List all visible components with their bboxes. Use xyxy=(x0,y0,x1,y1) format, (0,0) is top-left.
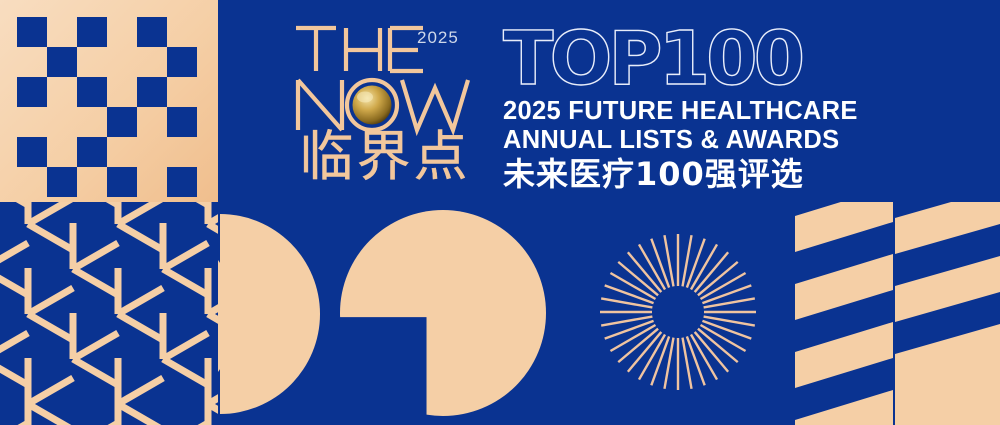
checker-cell xyxy=(137,107,167,137)
event-banner: 2025 临界点 TOP100 2025 FUTURE HEALTHCARE A… xyxy=(0,0,1000,425)
hex-lattice-icon xyxy=(0,202,218,425)
checker-cell xyxy=(17,167,47,197)
checker-cell xyxy=(77,17,107,47)
checker-cell xyxy=(17,17,47,47)
checker-cell xyxy=(167,107,197,137)
semicircle-right xyxy=(220,214,320,414)
checker-cell xyxy=(17,47,47,77)
gold-orb-icon xyxy=(347,80,397,130)
checker-cell xyxy=(167,17,197,47)
top100-title: TOP100 xyxy=(503,22,973,96)
chevron-stripes-icon xyxy=(785,202,1000,425)
shapes-panel xyxy=(218,202,580,425)
checker-cell xyxy=(107,47,137,77)
checker-cell xyxy=(77,137,107,167)
checker-cell xyxy=(137,17,167,47)
checker-cell xyxy=(167,77,197,107)
chevron-stripes-panel xyxy=(785,202,1000,425)
hex-lattice-panel xyxy=(0,202,218,425)
the-now-logo: 2025 临界点 xyxy=(292,18,488,188)
checker-cell xyxy=(107,77,137,107)
checker-cell xyxy=(137,137,167,167)
notched-circle xyxy=(340,210,546,416)
checker-cell xyxy=(47,77,77,107)
checker-cell xyxy=(107,17,137,47)
sunburst-icon xyxy=(580,202,780,425)
checker-cell xyxy=(47,17,77,47)
sunburst-panel xyxy=(580,202,780,425)
logo-chinese-title: 临界点 xyxy=(292,128,478,186)
checker-cell xyxy=(77,107,107,137)
subtitle-chinese: 未来医疗100强评选 xyxy=(503,155,973,193)
checker-cell xyxy=(107,167,137,197)
checker-cell xyxy=(137,47,167,77)
checker-cell xyxy=(167,47,197,77)
checker-cell xyxy=(17,107,47,137)
checker-cell xyxy=(47,137,77,167)
checker-cell xyxy=(47,47,77,77)
checkerboard-panel xyxy=(0,0,218,202)
subtitle-line-2: ANNUAL LISTS & AWARDS xyxy=(503,127,973,154)
checker-cell xyxy=(77,77,107,107)
checker-cell xyxy=(17,137,47,167)
checker-cell xyxy=(167,137,197,167)
checker-cell xyxy=(167,167,197,197)
checker-cell xyxy=(137,77,167,107)
checker-cell xyxy=(107,107,137,137)
checker-cell xyxy=(77,167,107,197)
checker-cell xyxy=(47,107,77,137)
checker-cell xyxy=(17,77,47,107)
checker-cell xyxy=(77,47,107,77)
checker-cell xyxy=(47,167,77,197)
checkerboard-grid xyxy=(17,17,197,197)
checker-cell xyxy=(137,167,167,197)
logo-year: 2025 xyxy=(417,28,459,48)
checker-cell xyxy=(107,137,137,167)
subtitle-line-1: 2025 FUTURE HEALTHCARE xyxy=(503,98,973,125)
headline-block: TOP100 2025 FUTURE HEALTHCARE ANNUAL LIS… xyxy=(503,22,973,193)
